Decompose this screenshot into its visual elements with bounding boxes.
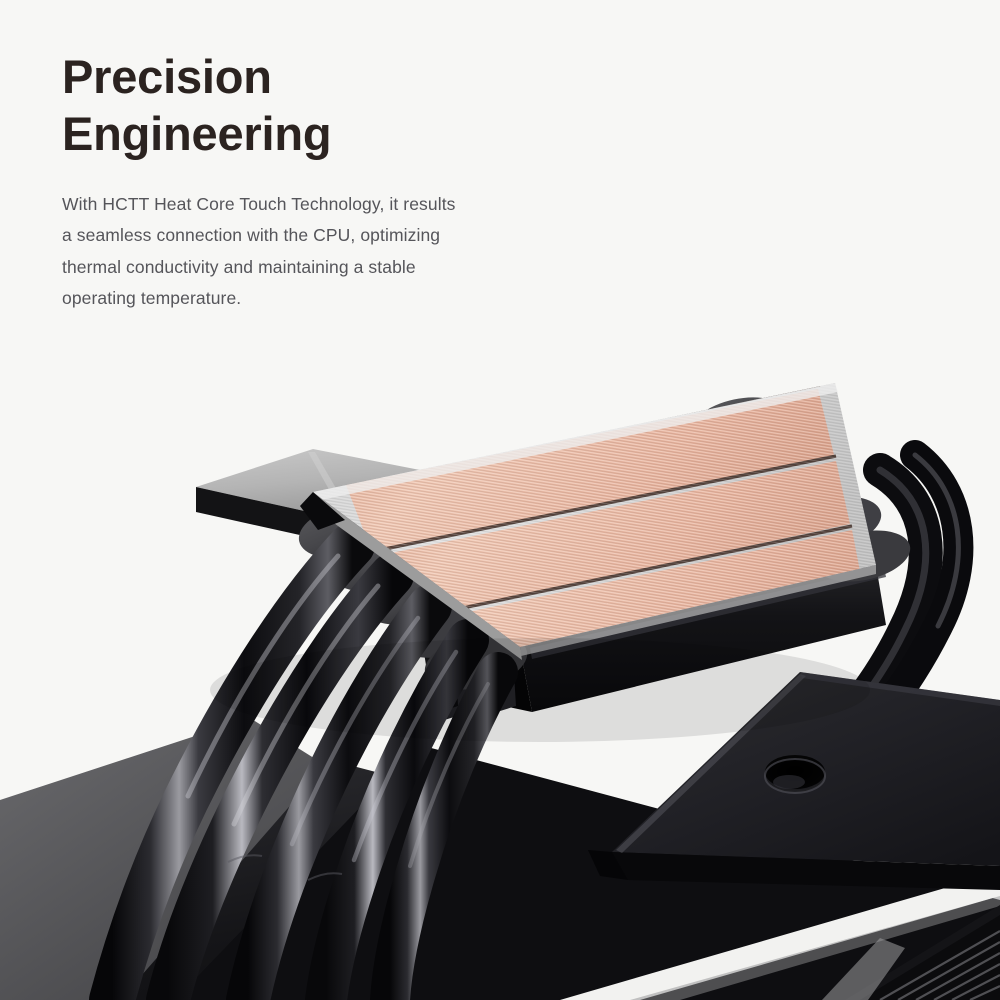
- feature-text-block: Precision Engineering With HCTT Heat Cor…: [62, 48, 622, 315]
- page-title: Precision Engineering: [62, 48, 622, 163]
- feature-description: With HCTT Heat Core Touch Technology, it…: [62, 189, 622, 315]
- screw-hole: [765, 755, 825, 793]
- product-feature-slide: Precision Engineering With HCTT Heat Cor…: [0, 0, 1000, 1000]
